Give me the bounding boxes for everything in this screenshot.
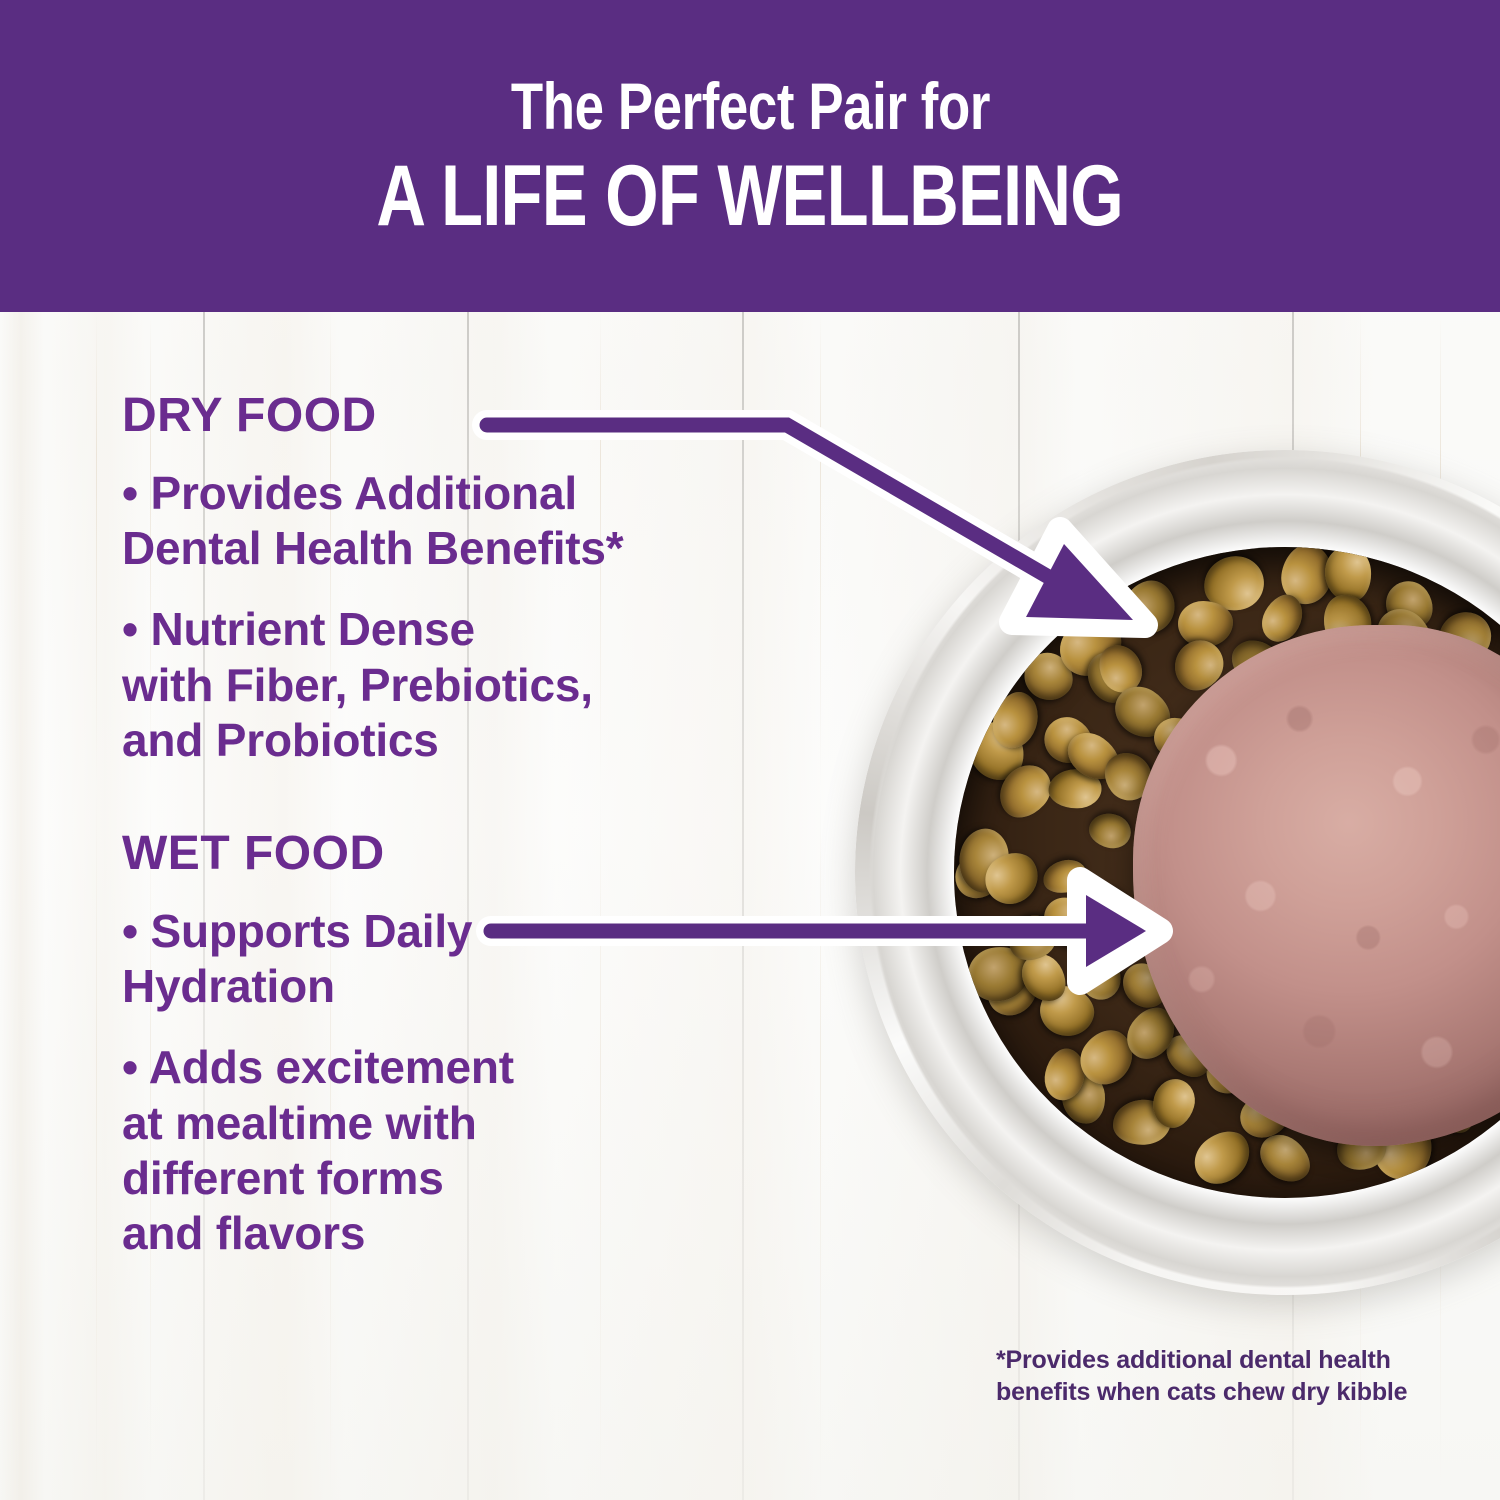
bullet-dry-1-line-1: • Provides Additional (122, 466, 822, 521)
bullet-dry-2: • Nutrient Dense with Fiber, Prebiotics,… (122, 602, 822, 768)
kibble-piece (1085, 809, 1134, 852)
footnote-line-2: benefits when cats chew dry kibble (996, 1377, 1416, 1409)
section-title-wet-food: WET FOOD (122, 830, 822, 878)
promo-graphic: The Perfect Pair for A LIFE OF WELLBEING (0, 0, 1500, 1500)
header-banner: The Perfect Pair for A LIFE OF WELLBEING (0, 0, 1500, 312)
bullet-dry-2-line-3: and Probiotics (122, 713, 822, 768)
bullet-dry-2-line-1: • Nutrient Dense (122, 602, 822, 657)
bullet-wet-1-line-2: Hydration (122, 959, 822, 1014)
benefits-content: DRY FOOD • Provides Additional Dental He… (122, 392, 822, 1261)
bullet-wet-2-line-1: • Adds excitement (122, 1040, 822, 1095)
pet-food-bowl-photo (855, 450, 1500, 1295)
section-title-dry-food: DRY FOOD (122, 392, 822, 440)
bullet-wet-2-line-4: and flavors (122, 1206, 822, 1261)
bullet-wet-2: • Adds excitement at mealtime with diffe… (122, 1040, 822, 1261)
bullet-wet-2-line-3: different forms (122, 1151, 822, 1206)
footnote: *Provides additional dental health benef… (996, 1345, 1416, 1408)
bullet-wet-1: • Supports Daily Hydration (122, 904, 822, 1014)
bullet-dry-2-line-2: with Fiber, Prebiotics, (122, 658, 822, 713)
footnote-line-1: *Provides additional dental health (996, 1345, 1416, 1377)
bullet-dry-1: • Provides Additional Dental Health Bene… (122, 466, 822, 576)
wood-grain-streak (96, 312, 97, 1500)
bullet-dry-1-line-2: Dental Health Benefits* (122, 521, 822, 576)
bullet-wet-2-line-2: at mealtime with (122, 1096, 822, 1151)
header-subtitle: The Perfect Pair for (510, 73, 989, 139)
bullet-wet-1-line-1: • Supports Daily (122, 904, 822, 959)
header-title: A LIFE OF WELLBEING (377, 153, 1124, 239)
